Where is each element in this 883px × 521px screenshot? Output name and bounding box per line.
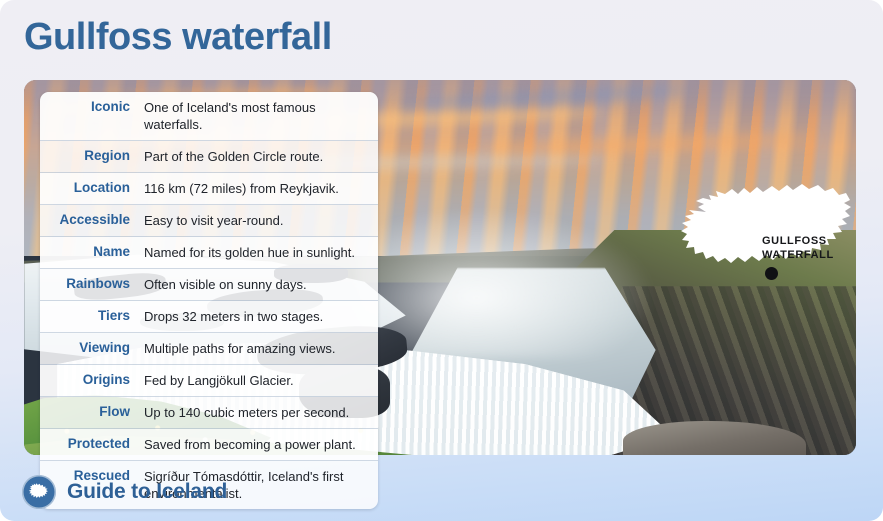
table-row-value: Easy to visit year-round. xyxy=(136,205,378,236)
table-row-label: Origins xyxy=(40,365,136,394)
table-row-label: Region xyxy=(40,141,136,170)
table-row-value: One of Iceland's most famous waterfalls. xyxy=(136,92,378,140)
map-location-label: GULLFOSS WATERFALL xyxy=(762,234,834,262)
table-row-value: Multiple paths for amazing views. xyxy=(136,333,378,364)
brand-name: Guide to Iceland xyxy=(67,480,227,504)
infographic-root: Gullfoss waterfall xyxy=(0,0,883,521)
iceland-map-overlay: GULLFOSS WATERFALL xyxy=(680,176,856,296)
table-row: OriginsFed by Langjökull Glacier. xyxy=(40,365,378,397)
table-row-label: Location xyxy=(40,173,136,202)
table-row: AccessibleEasy to visit year-round. xyxy=(40,205,378,237)
table-row: FlowUp to 140 cubic meters per second. xyxy=(40,397,378,429)
table-row-label: Rainbows xyxy=(40,269,136,298)
table-row-value: Fed by Langjökull Glacier. xyxy=(136,365,378,396)
table-row: IconicOne of Iceland's most famous water… xyxy=(40,92,378,141)
table-row: ProtectedSaved from becoming a power pla… xyxy=(40,429,378,461)
map-label-line2: WATERFALL xyxy=(762,248,834,262)
cloud-streak xyxy=(481,132,814,156)
guide-to-iceland-logo-icon[interactable] xyxy=(22,475,56,509)
table-row-value: Part of the Golden Circle route. xyxy=(136,141,378,172)
table-row-label: Name xyxy=(40,237,136,266)
table-row-value: Up to 140 cubic meters per second. xyxy=(136,397,378,428)
table-row-label: Iconic xyxy=(40,92,136,121)
table-row-label: Protected xyxy=(40,429,136,458)
table-row-value: Named for its golden hue in sunlight. xyxy=(136,237,378,268)
table-row: RainbowsOften visible on sunny days. xyxy=(40,269,378,301)
page-title: Gullfoss waterfall xyxy=(24,16,332,59)
footer-branding[interactable]: Guide to Iceland xyxy=(22,475,227,509)
table-row: RegionPart of the Golden Circle route. xyxy=(40,141,378,173)
location-dot-icon xyxy=(765,267,778,280)
table-row-value: Saved from becoming a power plant. xyxy=(136,429,378,460)
map-label-line1: GULLFOSS xyxy=(762,234,834,248)
facts-table: IconicOne of Iceland's most famous water… xyxy=(40,92,378,509)
facts-table-body: IconicOne of Iceland's most famous water… xyxy=(40,92,378,509)
cloud-streak xyxy=(398,83,690,112)
table-row: ViewingMultiple paths for amazing views. xyxy=(40,333,378,365)
table-row-label: Viewing xyxy=(40,333,136,362)
table-row-label: Flow xyxy=(40,397,136,426)
table-row-label: Tiers xyxy=(40,301,136,330)
table-row-value: Often visible on sunny days. xyxy=(136,269,378,300)
table-row: Location116 km (72 miles) from Reykjavik… xyxy=(40,173,378,205)
table-row-value: Drops 32 meters in two stages. xyxy=(136,301,378,332)
table-row: NameNamed for its golden hue in sunlight… xyxy=(40,237,378,269)
table-row-value: 116 km (72 miles) from Reykjavik. xyxy=(136,173,378,204)
table-row-label: Accessible xyxy=(40,205,136,234)
table-row: TiersDrops 32 meters in two stages. xyxy=(40,301,378,333)
